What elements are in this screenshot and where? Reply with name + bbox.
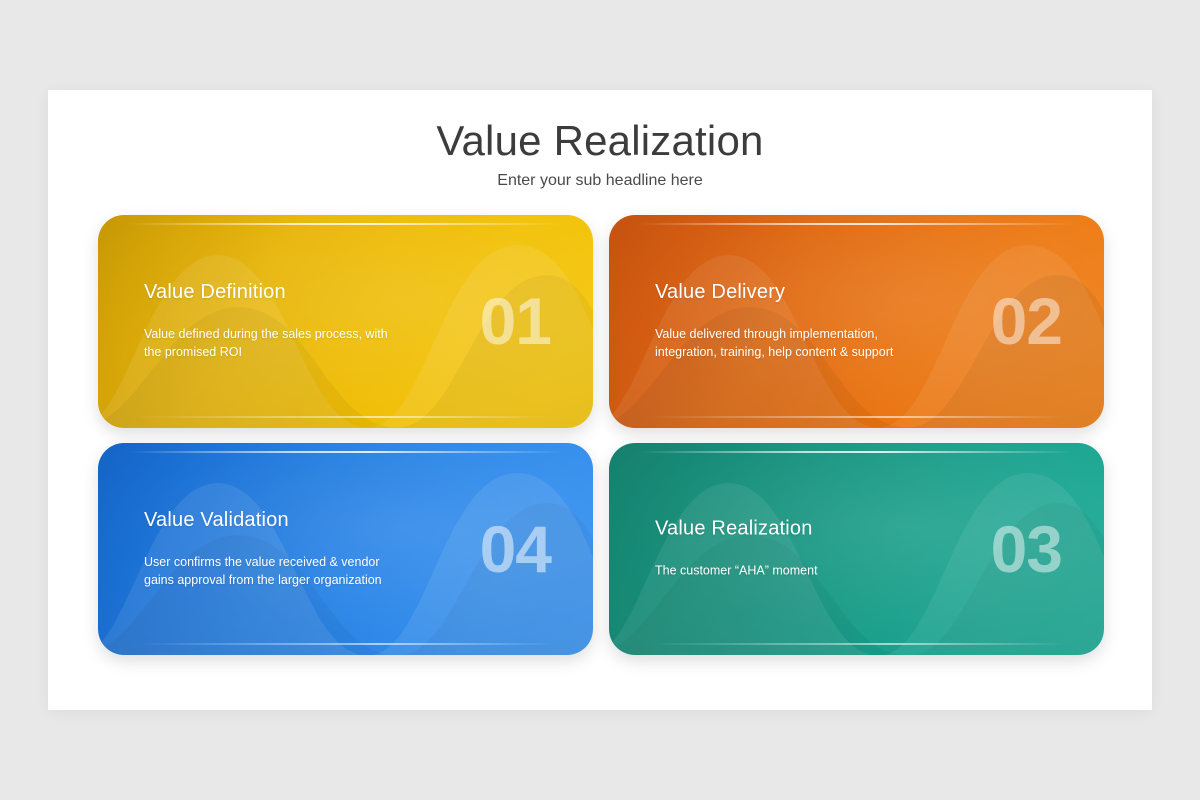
card-description-1: Value defined during the sales process, …: [144, 326, 396, 362]
card-heading-2: Value Delivery: [655, 281, 962, 304]
slide-stage: Value Realization Enter your sub headlin…: [0, 0, 1200, 800]
value-card-1[interactable]: Value Definition Value defined during th…: [98, 215, 593, 428]
value-card-grid: Value Definition Value defined during th…: [98, 215, 1104, 655]
card-number-4: 03: [991, 516, 1062, 582]
card-description-3: User confirms the value received & vendo…: [144, 554, 396, 590]
value-card-4[interactable]: Value Realization The customer “AHA” mom…: [609, 443, 1104, 656]
card-description-2: Value delivered through implementation, …: [655, 326, 907, 362]
slide-panel: Value Realization Enter your sub headlin…: [48, 90, 1152, 710]
card-number-3: 04: [480, 516, 551, 582]
card-heading-4: Value Realization: [655, 517, 962, 540]
page-subtitle: Enter your sub headline here: [48, 172, 1152, 190]
value-card-3[interactable]: Value Validation User confirms the value…: [98, 443, 593, 656]
card-heading-3: Value Validation: [144, 509, 451, 532]
card-content-2: Value Delivery Value delivered through i…: [655, 281, 962, 362]
card-content-3: Value Validation User confirms the value…: [144, 509, 451, 590]
card-number-2: 02: [991, 288, 1062, 354]
card-content-1: Value Definition Value defined during th…: [144, 281, 451, 362]
value-card-2[interactable]: Value Delivery Value delivered through i…: [609, 215, 1104, 428]
page-title: Value Realization: [48, 117, 1152, 165]
card-number-1: 01: [480, 288, 551, 354]
card-description-4: The customer “AHA” moment: [655, 562, 907, 580]
card-heading-1: Value Definition: [144, 281, 451, 304]
card-content-4: Value Realization The customer “AHA” mom…: [655, 517, 962, 580]
